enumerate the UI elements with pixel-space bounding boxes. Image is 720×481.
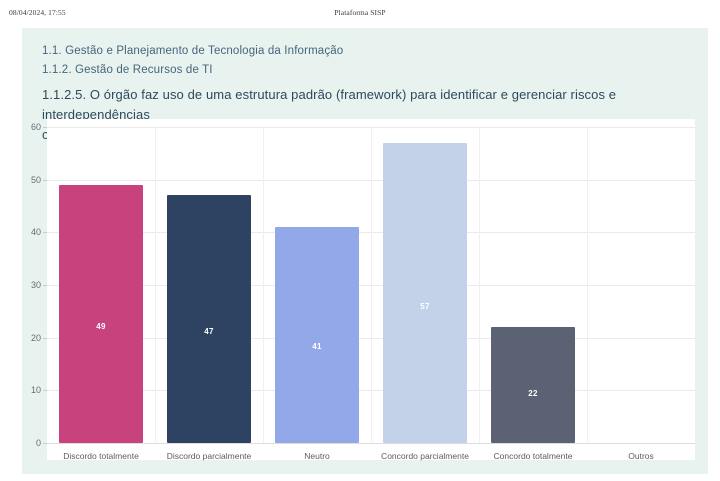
chart-bar[interactable]: 41 bbox=[275, 227, 359, 443]
chart-x-tick-label: Outros bbox=[628, 451, 654, 461]
chart-y-tick-label: 0 bbox=[36, 438, 41, 448]
chart-y-tick-label: 30 bbox=[31, 280, 41, 290]
chart-bar[interactable]: 22 bbox=[491, 327, 575, 443]
chart-y-tick-mark bbox=[43, 285, 47, 286]
chart-category-separator bbox=[587, 127, 588, 443]
print-platform-title: Plataforma SISP bbox=[0, 8, 720, 17]
chart-y-tick-label: 50 bbox=[31, 175, 41, 185]
chart-x-tick-label: Discordo totalmente bbox=[63, 451, 139, 461]
chart-y-tick-mark bbox=[43, 180, 47, 181]
print-header: 08/04/2024, 17:55 Plataforma SISP bbox=[0, 0, 720, 28]
question-section: 1.1. Gestão e Planejamento de Tecnologia… bbox=[42, 42, 690, 61]
chart-bar[interactable]: 57 bbox=[383, 143, 467, 443]
chart-y-tick-mark bbox=[43, 390, 47, 391]
chart-x-tick-label: Discordo parcialmente bbox=[167, 451, 252, 461]
question-card: 1.1. Gestão e Planejamento de Tecnologia… bbox=[22, 28, 708, 474]
chart-x-tick-label: Concordo parcialmente bbox=[381, 451, 469, 461]
chart-category-separator bbox=[371, 127, 372, 443]
chart-y-tick-mark bbox=[43, 127, 47, 128]
chart-x-axis-labels: Discordo totalmenteDiscordo parcialmente… bbox=[47, 451, 695, 469]
chart-y-tick-label: 60 bbox=[31, 122, 41, 132]
chart-bar-value-label: 49 bbox=[59, 322, 143, 331]
chart-bar-value-label: 41 bbox=[275, 342, 359, 351]
chart-bar-value-label: 47 bbox=[167, 327, 251, 336]
chart-gridline: 0 bbox=[47, 443, 695, 444]
chart-y-tick-label: 10 bbox=[31, 385, 41, 395]
chart-plot-area: 01020304050604947415722 bbox=[47, 127, 695, 443]
chart-x-tick-label: Neutro bbox=[304, 451, 330, 461]
chart-y-tick-label: 20 bbox=[31, 333, 41, 343]
chart-x-tick-label: Concordo totalmente bbox=[494, 451, 573, 461]
chart-y-tick-label: 40 bbox=[31, 227, 41, 237]
chart-category-separator bbox=[263, 127, 264, 443]
chart-category-separator bbox=[479, 127, 480, 443]
chart-bar-value-label: 22 bbox=[491, 389, 575, 398]
question-subsection: 1.1.2. Gestão de Recursos de TI bbox=[42, 61, 690, 80]
chart-y-tick-mark bbox=[43, 443, 47, 444]
bar-chart: 01020304050604947415722 Discordo totalme… bbox=[47, 119, 695, 460]
chart-bar[interactable]: 49 bbox=[59, 185, 143, 443]
chart-y-tick-mark bbox=[43, 232, 47, 233]
chart-bar-value-label: 57 bbox=[383, 302, 467, 311]
chart-y-tick-mark bbox=[43, 338, 47, 339]
chart-category-separator bbox=[155, 127, 156, 443]
chart-bar[interactable]: 47 bbox=[167, 195, 251, 443]
